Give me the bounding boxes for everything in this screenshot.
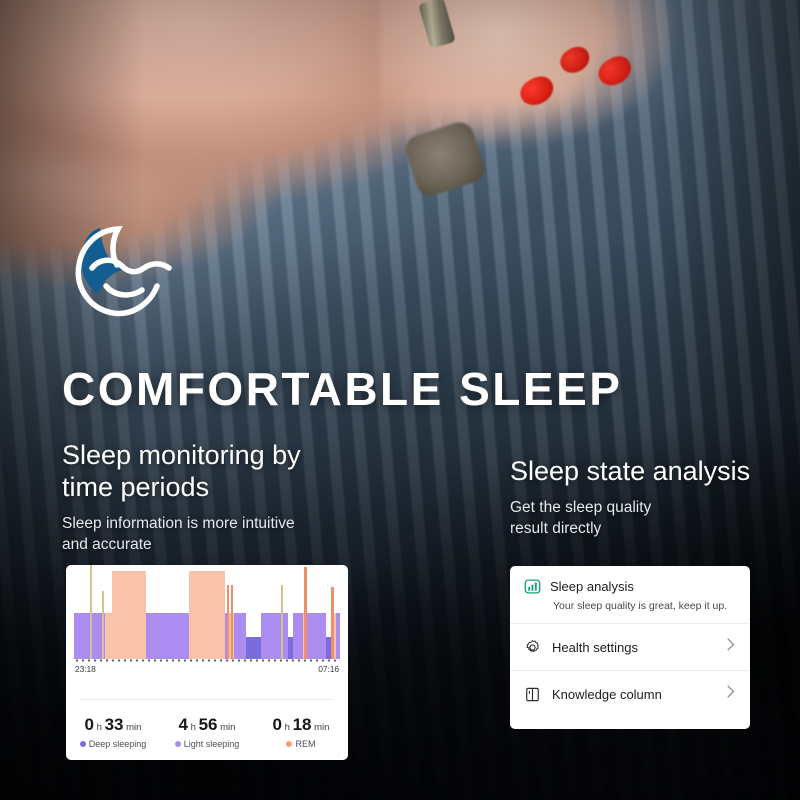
- sleep-analysis-title: Sleep analysis: [524, 578, 736, 595]
- sleep-stat-legend: Deep sleeping: [66, 739, 159, 749]
- sleep-stage-bar: [74, 613, 100, 659]
- sleep-stage-bar: [246, 637, 261, 659]
- page-title: COMFORTABLE SLEEP: [62, 362, 622, 416]
- sleep-stats-row: 0 h 33 minDeep sleeping4 h 56 minLight s…: [66, 715, 348, 749]
- sleep-analysis-label: Sleep analysis: [550, 579, 634, 594]
- sleep-stage-bar: [336, 613, 340, 659]
- sleep-stage-bar: [189, 571, 225, 659]
- legend-label: Light sleeping: [184, 739, 240, 749]
- sleep-analysis-description: Your sleep quality is great, keep it up.: [553, 600, 736, 612]
- sleep-spike: [102, 591, 104, 659]
- right-subtitle-line2: result directly: [510, 519, 780, 540]
- sleep-stage-bar: [112, 571, 147, 659]
- chart-baseline: [74, 659, 340, 662]
- left-subtitle: Sleep information is more intuitive and …: [62, 514, 462, 556]
- sleep-stat-value: 0 h 33 min: [66, 715, 159, 735]
- card-divider: [80, 699, 334, 700]
- sleep-spike: [304, 567, 307, 659]
- sleep-analysis-card[interactable]: Sleep analysis Your sleep quality is gre…: [510, 566, 750, 729]
- sleep-stage-chart[interactable]: [74, 571, 340, 659]
- sleep-stage-bar: [307, 613, 326, 659]
- sleep-stage-bar: [293, 613, 303, 659]
- gear-icon: [524, 639, 541, 656]
- book-icon: [524, 686, 541, 703]
- sleep-spike: [331, 587, 334, 659]
- legend-label: Deep sleeping: [89, 739, 147, 749]
- sleep-stat: 0 h 33 minDeep sleeping: [66, 715, 159, 749]
- legend-color-dot: [80, 741, 86, 747]
- promo-page: COMFORTABLE SLEEP Sleep monitoring by ti…: [0, 0, 800, 800]
- sleep-spike: [281, 585, 283, 659]
- sleep-spike: [227, 585, 229, 659]
- sleep-spike: [90, 565, 92, 659]
- legend-color-dot: [286, 741, 292, 747]
- left-subtitle-line1: Sleep information is more intuitive: [62, 514, 462, 535]
- chart-start-time: 23:18: [75, 664, 96, 674]
- sleep-stage-bar: [267, 613, 288, 659]
- health-settings-row[interactable]: Health settings: [510, 624, 750, 670]
- right-subtitle-line1: Get the sleep quality: [510, 498, 780, 519]
- sleep-chart-card[interactable]: 23:18 07:16 0 h 33 minDeep sleeping4 h 5…: [66, 565, 348, 760]
- legend-color-dot: [175, 741, 181, 747]
- chart-end-time: 07:16: [318, 664, 339, 674]
- knowledge-column-row[interactable]: Knowledge column: [510, 671, 750, 717]
- sleep-stat-legend: REM: [254, 739, 347, 749]
- sleep-stat-value: 0 h 18 min: [254, 715, 347, 735]
- left-heading-line1: Sleep monitoring by: [62, 440, 462, 472]
- sleep-stat-legend: Light sleeping: [160, 739, 253, 749]
- sleep-spike: [231, 585, 233, 659]
- left-subtitle-line2: and accurate: [62, 535, 462, 556]
- right-subtitle: Get the sleep quality result directly: [510, 498, 780, 540]
- legend-label: REM: [295, 739, 315, 749]
- left-heading-line2: time periods: [62, 472, 462, 504]
- chevron-right-icon: [726, 683, 736, 705]
- left-heading: Sleep monitoring by time periods: [62, 440, 462, 504]
- sleep-stage-bar: [151, 613, 188, 659]
- left-column: Sleep monitoring by time periods Sleep i…: [62, 440, 462, 556]
- chevron-right-icon: [726, 636, 736, 658]
- chart-bar-icon: [524, 578, 541, 595]
- right-column: Sleep state analysis Get the sleep quali…: [510, 456, 780, 540]
- right-heading: Sleep state analysis: [510, 456, 780, 488]
- sleep-stat: 0 h 18 minREM: [254, 715, 347, 749]
- sleep-stage-bar: [234, 613, 246, 659]
- crescent-moon-waves-icon: [62, 212, 187, 322]
- knowledge-column-label: Knowledge column: [552, 687, 715, 702]
- health-settings-label: Health settings: [552, 640, 715, 655]
- sleep-stat: 4 h 56 minLight sleeping: [160, 715, 253, 749]
- sleep-stat-value: 4 h 56 min: [160, 715, 253, 735]
- sleep-analysis-row[interactable]: Sleep analysis Your sleep quality is gre…: [510, 566, 750, 623]
